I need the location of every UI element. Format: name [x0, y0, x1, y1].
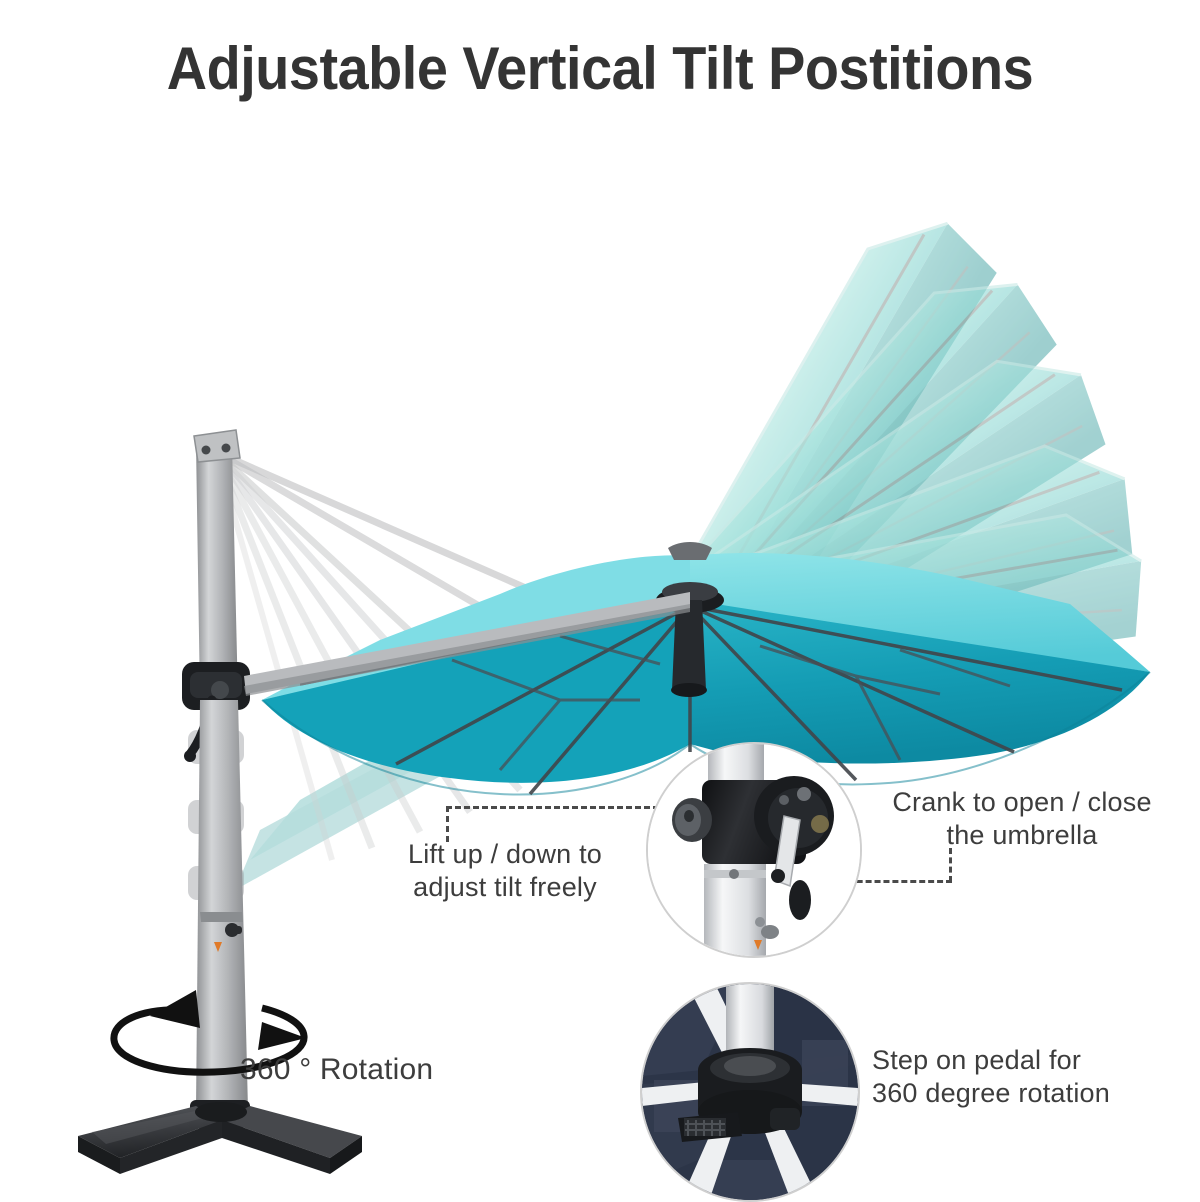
- umbrella-illustration: [0, 0, 1200, 1200]
- callout-lift-tilt: Lift up / down to adjust tilt freely: [382, 838, 628, 904]
- crank-detail-photo: [646, 742, 862, 958]
- callout-rotation: 360 ° Rotation: [240, 1052, 500, 1089]
- callout-crank: Crank to open / close the umbrella: [862, 786, 1182, 852]
- weighted-base: [78, 1102, 362, 1174]
- pedal-detail-photo: [640, 982, 860, 1202]
- leader-lift-vertical: [446, 806, 449, 842]
- callout-pedal: Step on pedal for 360 degree rotation: [872, 1044, 1172, 1110]
- infographic-canvas: Adjustable Vertical Tilt Postitions: [0, 0, 1200, 1200]
- leader-lift-horizontal: [446, 806, 668, 809]
- leader-crank-vertical: [949, 848, 952, 882]
